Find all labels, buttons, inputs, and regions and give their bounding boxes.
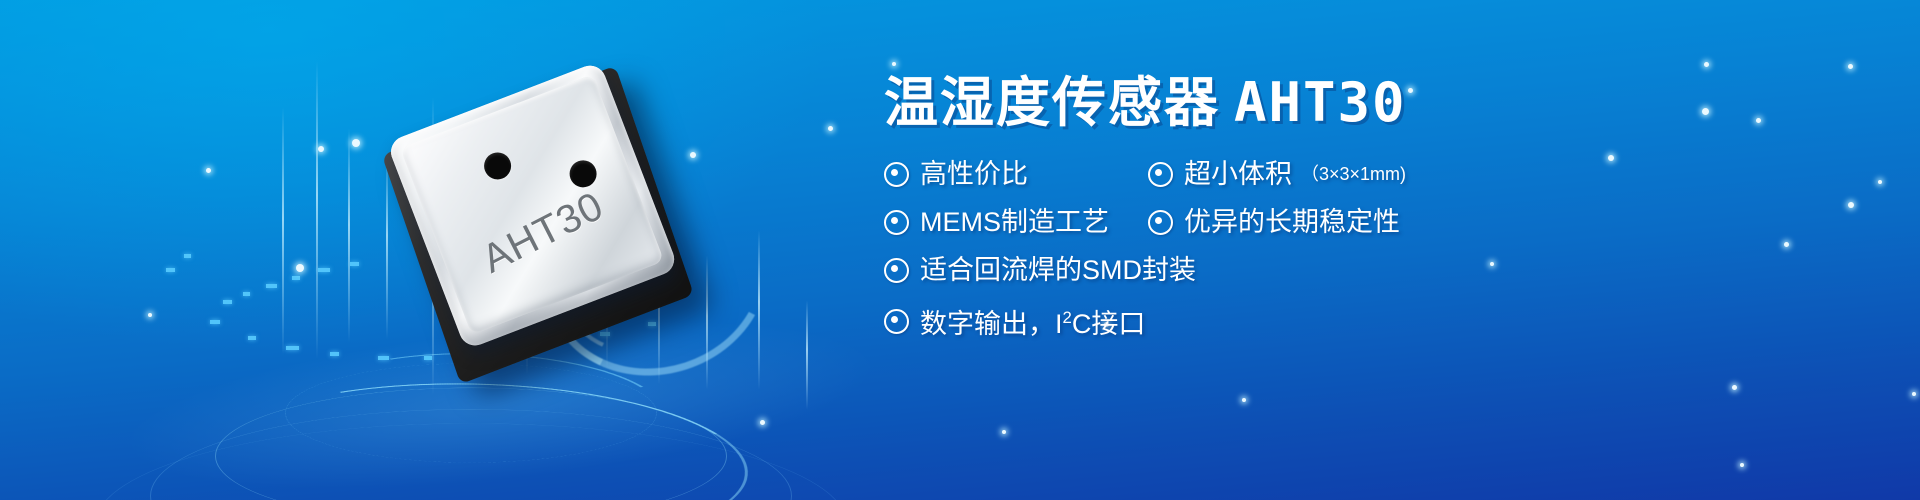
- tech-ring-2: [215, 388, 727, 500]
- pixel-speck: [318, 268, 330, 272]
- ring-dot-icon: [1148, 210, 1173, 235]
- light-particle: [1704, 62, 1709, 67]
- light-particle: [318, 146, 324, 152]
- pixel-speck: [330, 352, 339, 356]
- pixel-speck: [266, 284, 277, 288]
- title-chinese: 温湿度传感器: [884, 73, 1220, 133]
- light-particle: [828, 126, 833, 131]
- light-bar: [316, 60, 318, 360]
- feature-item-interface: 数字输出，I2C接口: [884, 298, 1145, 344]
- ring-dot-icon: [884, 258, 909, 283]
- feature-item-mems: MEMS制造工艺: [884, 202, 1148, 242]
- feature-item-smd: 适合回流焊的SMD封装: [884, 250, 1196, 290]
- ring-dot-icon: [1148, 162, 1173, 187]
- light-particle: [1848, 64, 1853, 69]
- feature-label: 超小体积: [1184, 154, 1292, 194]
- light-particle: [1878, 180, 1882, 184]
- pixel-speck: [424, 356, 432, 360]
- feature-item-cost: 高性价比: [884, 154, 1148, 194]
- light-particle: [148, 313, 152, 317]
- banner-text-block: 温湿度传感器AHT30 高性价比 超小体积 （3×3×1mm) MEMS制造工艺: [884, 72, 1864, 352]
- pixel-speck: [243, 292, 250, 296]
- pixel-speck: [248, 336, 256, 340]
- feature-label: MEMS制造工艺: [920, 202, 1109, 242]
- light-particle: [1740, 463, 1744, 467]
- light-particle: [760, 420, 765, 425]
- chip-marking-text: AHT30: [431, 161, 655, 305]
- ring-dot-icon: [884, 210, 909, 235]
- pixel-speck: [166, 268, 175, 272]
- pixel-speck: [350, 262, 359, 266]
- feature-label: 适合回流焊的SMD封装: [920, 250, 1196, 290]
- feature-note: （3×3×1mm): [1301, 154, 1406, 194]
- feature-label-post: C接口: [1072, 309, 1146, 339]
- feature-label: 高性价比: [920, 154, 1028, 194]
- pixel-speck: [378, 356, 389, 360]
- tech-ring-outer: [95, 423, 847, 500]
- title-model: AHT30: [1234, 71, 1407, 134]
- pixel-speck: [286, 346, 299, 350]
- light-particle: [206, 168, 211, 173]
- feature-row: 数字输出，I2C接口: [884, 298, 1864, 344]
- feature-row: 高性价比 超小体积 （3×3×1mm): [884, 154, 1864, 194]
- pixel-speck: [210, 320, 220, 324]
- pixel-speck: [223, 300, 232, 304]
- feature-label: 优异的长期稳定性: [1184, 202, 1400, 242]
- light-bar: [282, 106, 284, 356]
- tech-ring-1: [150, 409, 792, 500]
- feature-list: 高性价比 超小体积 （3×3×1mm) MEMS制造工艺 优异的长期稳定性: [884, 154, 1864, 344]
- pixel-speck: [184, 254, 191, 258]
- product-banner: AHT30 温湿度传感器AHT30 高性价比 超小体积 （3×3×1mm): [0, 0, 1920, 500]
- ring-dot-icon: [884, 162, 909, 187]
- light-bar: [758, 230, 760, 390]
- light-particle: [1732, 385, 1737, 390]
- light-particle: [690, 152, 696, 158]
- feature-item-stability: 优异的长期稳定性: [1148, 202, 1400, 242]
- light-particle: [296, 264, 304, 272]
- chip-vent-hole: [480, 148, 515, 183]
- light-bar: [806, 300, 808, 410]
- feature-label-pre: 数字输出，I: [920, 309, 1063, 339]
- light-particle: [1002, 430, 1006, 434]
- light-bar: [348, 128, 350, 343]
- feature-item-size: 超小体积 （3×3×1mm): [1148, 154, 1406, 194]
- ring-dot-icon: [884, 309, 909, 334]
- feature-row: MEMS制造工艺 优异的长期稳定性: [884, 202, 1864, 242]
- light-particle: [1242, 398, 1246, 402]
- page-title: 温湿度传感器AHT30: [884, 72, 1864, 134]
- light-particle: [1912, 392, 1916, 396]
- feature-label-superscript: 2: [1063, 308, 1072, 327]
- light-particle: [892, 62, 896, 66]
- feature-row: 适合回流焊的SMD封装: [884, 250, 1864, 290]
- pixel-speck: [292, 276, 300, 280]
- sensor-chip-image: AHT30: [357, 34, 739, 408]
- feature-label: 数字输出，I2C接口: [920, 298, 1145, 344]
